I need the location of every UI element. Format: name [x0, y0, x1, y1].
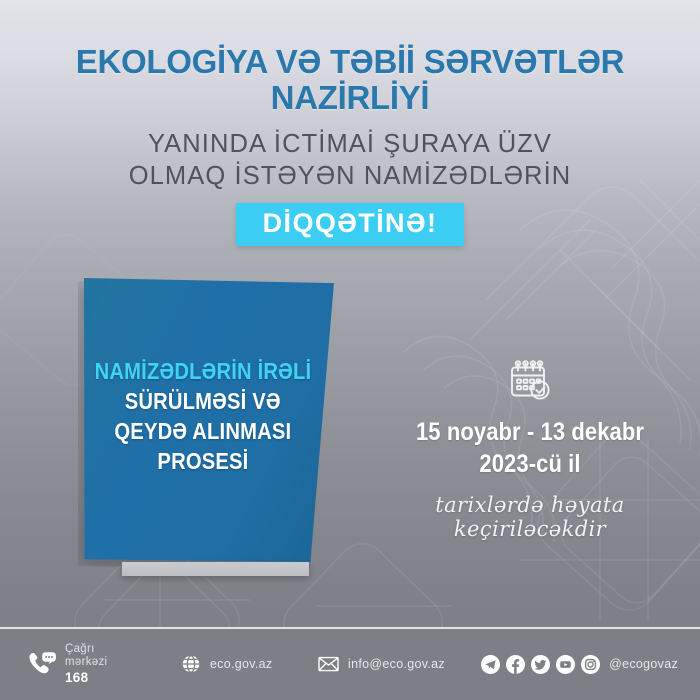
title-line-2: NAZİRLİYİ — [58, 80, 642, 116]
call-center-number: 168 — [65, 670, 116, 686]
facebook-icon[interactable] — [506, 655, 525, 674]
instagram-icon[interactable] — [581, 655, 600, 674]
title-line-1: EKOLOGİYA VƏ TƏBİİ SƏRVƏTLƏR — [58, 44, 642, 80]
attention-badge-wrap: DİQQƏTİNƏ! — [0, 203, 700, 246]
date-script-note: tarixlərdə həyata keçiriləcəkdir — [385, 493, 675, 541]
telegram-icon[interactable] — [481, 655, 500, 674]
date-line-1: 15 noyabr - 13 dekabr — [402, 416, 657, 448]
date-info-block: 15 noyabr - 13 dekabr 2023-cü il tarixlə… — [385, 358, 675, 541]
panel-base-bar — [122, 562, 309, 576]
footer-call-center[interactable]: Çağrı mərkəzi 168 — [28, 643, 116, 686]
page-title: EKOLOGİYA VƏ TƏBİİ SƏRVƏTLƏR NAZİRLİYİ — [0, 44, 700, 117]
page-subtitle: YANINDA İCTİMAİ ŞURAYA ÜZV OLMAQ İSTƏYƏN… — [0, 128, 700, 192]
footer-email[interactable]: info@eco.gov.az — [318, 656, 445, 672]
footer-bar: Çağrı mərkəzi 168 eco.gov.az — [0, 629, 700, 700]
call-center-text: Çağrı mərkəzi 168 — [65, 643, 116, 686]
email-text: info@eco.gov.az — [348, 657, 445, 672]
globe-icon — [181, 654, 201, 674]
footer-website[interactable]: eco.gov.az — [181, 654, 273, 674]
panel-line-3: QEYDƏ ALINMASI — [115, 416, 292, 446]
header-block: EKOLOGİYA VƏ TƏBİİ SƏRVƏTLƏR NAZİRLİYİ Y… — [0, 44, 700, 192]
twitter-icon[interactable] — [531, 655, 550, 674]
calendar-check-icon — [507, 358, 553, 404]
process-panel: NAMİZƏDLƏRİN İRƏLİ SÜRÜLMƏSİ VƏ QEYDƏ AL… — [84, 278, 334, 562]
subtitle-line-1: YANINDA İCTİMAİ ŞURAYA ÜZV — [0, 128, 700, 160]
social-handle: @ecogovaz — [609, 657, 678, 671]
call-center-label: Çağrı mərkəzi — [65, 643, 116, 670]
envelope-icon — [318, 656, 339, 672]
website-text: eco.gov.az — [210, 657, 273, 672]
date-line-2: 2023-cü il — [402, 448, 657, 480]
panel-line-4: PROSESİ — [157, 446, 248, 476]
youtube-icon[interactable] — [556, 655, 575, 674]
panel-line-2: SÜRÜLMƏSİ VƏ — [125, 386, 281, 416]
phone-chat-icon — [28, 651, 56, 677]
poster-canvas: EKOLOGİYA VƏ TƏBİİ SƏRVƏTLƏR NAZİRLİYİ Y… — [0, 0, 700, 700]
subtitle-line-2: OLMAQ İSTƏYƏN NAMİZƏDLƏRİN — [0, 160, 700, 192]
attention-badge: DİQQƏTİNƏ! — [236, 203, 465, 246]
footer-social: @ecogovaz — [481, 655, 678, 674]
social-icon-row — [481, 655, 600, 674]
panel-line-1: NAMİZƏDLƏRİN İRƏLİ — [95, 356, 312, 386]
